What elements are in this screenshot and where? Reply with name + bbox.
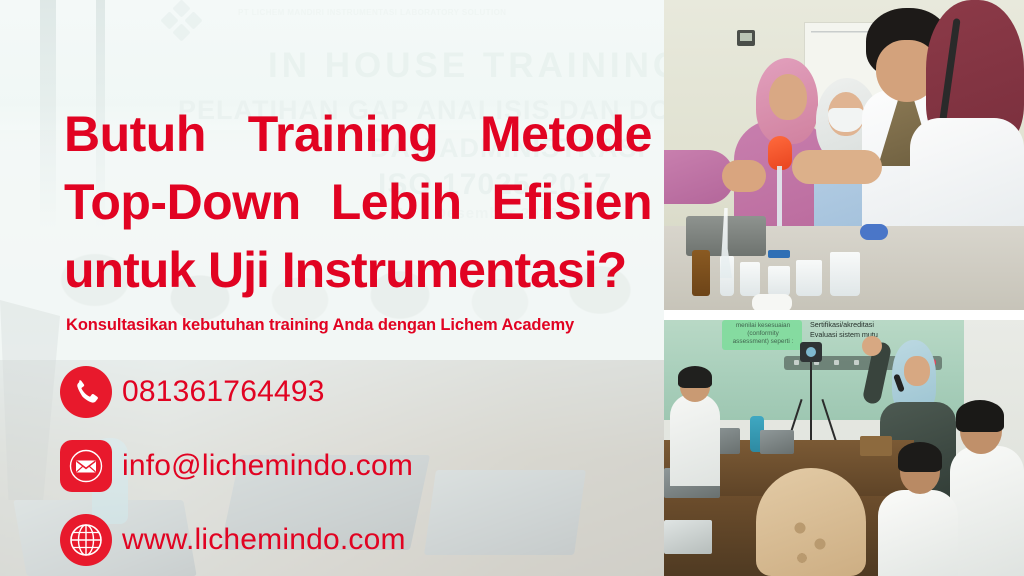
classroom-seminar-photo: menilai kesesuaian (conformity assessmen… [664,318,1024,576]
subtitle: Konsultasikan kebutuhan training Anda de… [66,316,574,335]
headline: Butuh Training Metode Top-Down Lebih Efi… [64,100,652,304]
watermark-logo-icon [160,2,204,46]
wall-thermometer-icon [737,30,755,46]
presenter-face [904,356,930,386]
ghost-poster-title: IN HOUSE TRAINING [268,46,664,86]
attendee-hair [898,442,942,472]
glassware [796,260,822,296]
laptop [664,520,712,554]
nitrile-glove [860,224,888,240]
slide-text-right: Sertifikasi/akreditasi Evaluasi sistem m… [810,320,960,340]
email-icon [60,440,112,492]
contact-row-phone[interactable]: 081361764493 [60,360,620,424]
hand-left [722,160,766,192]
email-address[interactable]: info@lichemindo.com [122,449,413,483]
glassware [740,262,760,296]
background-stripe [40,0,56,230]
pipette-bulb-icon [768,136,792,170]
contact-row-email[interactable]: info@lichemindo.com [60,434,620,498]
ghost-company-text: PT LICHEM MANDIRI INSTRUMENTASI LABORATO… [238,8,506,18]
content-panel: PT LICHEM MANDIRI INSTRUMENTASI LABORATO… [0,0,664,576]
hijab-pattern [786,514,834,570]
attendee-hair [956,400,1004,432]
phone-number[interactable]: 081361764493 [122,375,325,409]
contact-list: 081361764493 info@lichemindo.com [60,360,620,576]
headline-word: Lebih [331,168,462,236]
attendee-hair [678,366,712,388]
wooden-box [860,436,892,456]
reaching-arm-right [792,150,882,184]
photo-column: menilai kesesuaian (conformity assessmen… [664,0,1024,576]
attendee-body [950,446,1024,576]
slide-text-left: menilai kesesuaian (conformity assessmen… [724,322,802,346]
headline-line-3: untuk Uji Instrumentasi? [64,236,652,304]
headline-word: Metode [480,100,652,168]
laboratory-training-photo [664,0,1024,314]
headline-word: Top-Down [64,168,301,236]
phone-icon [60,366,112,418]
promotional-banner: PT LICHEM MANDIRI INSTRUMENTASI LABORATO… [0,0,1024,576]
headline-line-2: Top-Down Lebih Efisien [64,168,652,236]
headline-word: Efisien [492,168,652,236]
website-url[interactable]: www.lichemindo.com [122,523,406,557]
person-pink-face [769,74,807,120]
attendee-body [670,394,720,486]
headline-word: Butuh [64,100,206,168]
glassware [768,266,790,296]
beaker [830,252,860,296]
headline-word: Training [248,100,438,168]
laptop [760,430,794,454]
camera-icon [800,342,822,362]
headline-line-1: Butuh Training Metode [64,100,652,168]
presenter-hand [862,336,882,356]
attendee-body [878,490,958,576]
photo-divider [664,310,1024,320]
reagent-bottle [692,250,710,296]
globe-icon [60,514,112,566]
contact-row-website[interactable]: www.lichemindo.com [60,508,620,572]
bottle-cap [768,250,790,258]
